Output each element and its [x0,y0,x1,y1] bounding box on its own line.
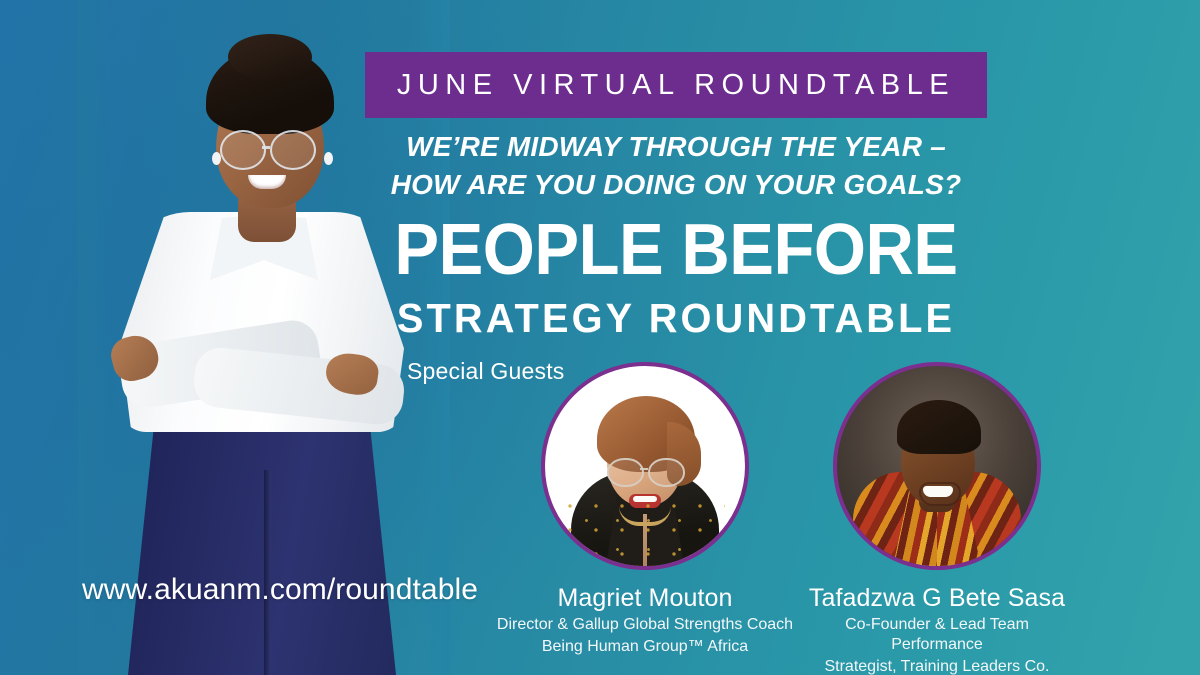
subtitle-line-2: HOW ARE YOU DOING ON YOUR GOALS? [365,166,987,204]
portrait-eyeglass-bridge [262,146,270,149]
website-url[interactable]: www.akuanm.com/roundtable [82,573,478,607]
portrait-skirt [128,392,396,675]
speaker-role-line-1: Director & Gallup Global Strengths Coach [490,615,800,635]
speaker-role-line-2: Being Human Group™ Africa [490,637,800,657]
speaker-name: Tafadzwa G Bete Sasa [806,584,1068,613]
promotional-poster: JUNE VIRTUAL ROUNDTABLE WE’RE MIDWAY THR… [0,0,1200,675]
avatar2-teeth [923,486,953,497]
subtitle-block: WE’RE MIDWAY THROUGH THE YEAR – HOW ARE … [365,128,987,204]
portrait-earring-right [324,152,333,165]
speaker-role-line-2: Strategist, Training Leaders Co. [806,657,1068,675]
avatar1-eyeglass-right [648,458,685,487]
speaker-name: Magriet Mouton [490,584,800,613]
speaker-avatar-magriet-mouton [541,362,749,570]
event-banner: JUNE VIRTUAL ROUNDTABLE [365,52,987,118]
portrait-eyeglass-left [220,130,266,170]
speaker-avatar-tafadzwa-g-bete-sasa [833,362,1041,570]
portrait-eyeglass-right [270,130,316,170]
headline-primary: PEOPLE BEFORE [387,213,965,287]
portrait-hair-bun [228,34,312,80]
speaker-card-magriet-mouton: Magriet Mouton Director & Gallup Global … [490,362,800,657]
speaker-role-line-1: Co-Founder & Lead Team Performance [806,615,1068,655]
avatar1-eyeglass-left [607,458,644,487]
avatar1-eyeglass-bridge [640,468,648,470]
subtitle-line-1: WE’RE MIDWAY THROUGH THE YEAR – [365,128,987,166]
avatar2-hair [897,400,981,454]
speaker-card-tafadzwa-g-bete-sasa: Tafadzwa G Bete Sasa Co-Founder & Lead T… [806,362,1068,675]
avatar1-teeth [633,496,657,502]
headline-secondary: STRATEGY ROUNDTABLE [374,295,977,341]
event-banner-label: JUNE VIRTUAL ROUNDTABLE [397,69,955,102]
